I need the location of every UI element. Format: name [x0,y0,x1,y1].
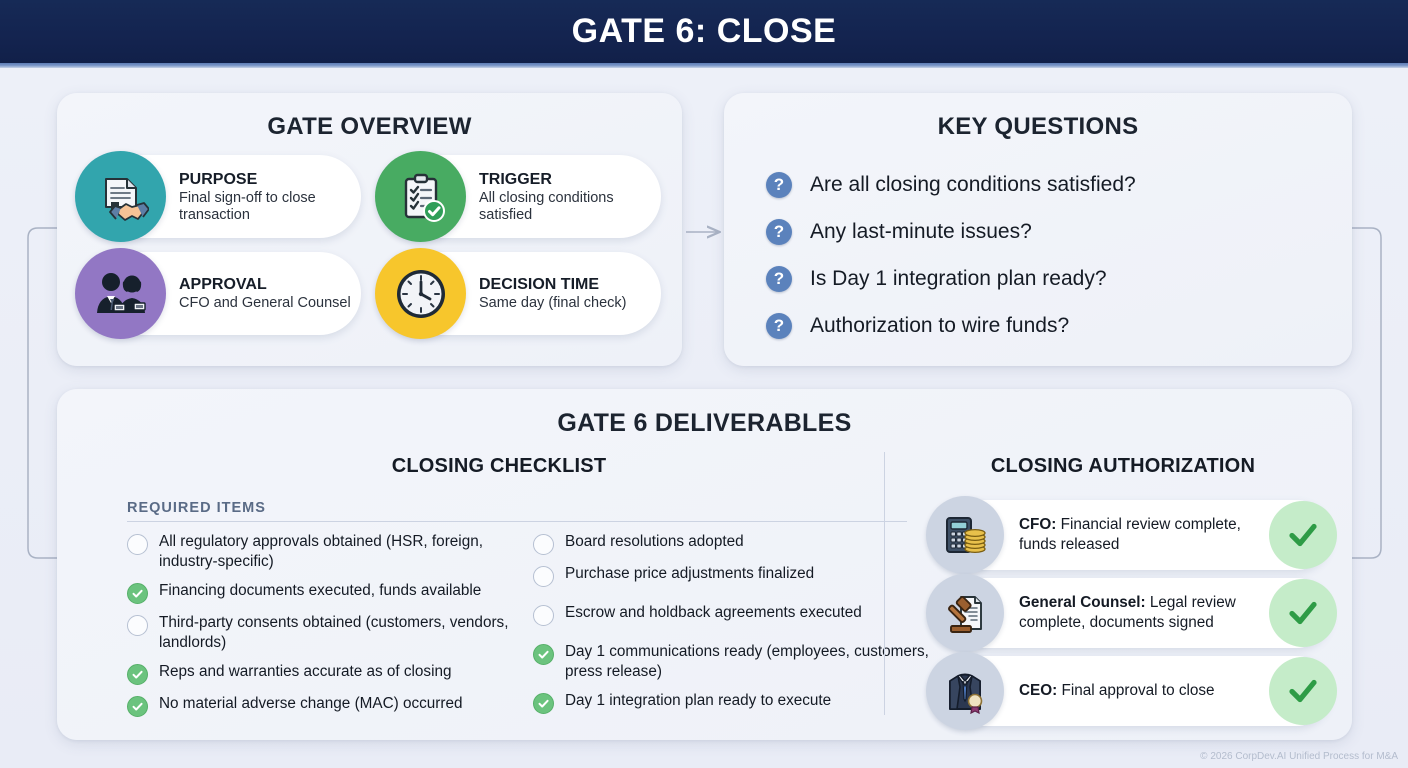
key-questions-list: ? Are all closing conditions satisfied? … [766,161,1326,349]
overview-card-label: PURPOSE [179,170,353,189]
key-question-text: Are all closing conditions satisfied? [810,173,1136,197]
checklist-item[interactable]: No material adverse change (MAC) occurre… [127,694,523,717]
key-question-text: Is Day 1 integration plan ready? [810,267,1107,291]
checklist-item[interactable]: Day 1 integration plan ready to execute [533,691,929,714]
checklist-columns: All regulatory approvals obtained (HSR, … [127,532,929,726]
closing-authorization-title: CLOSING AUTHORIZATION [903,455,1343,478]
checklist-item[interactable]: All regulatory approvals obtained (HSR, … [127,532,523,572]
checklist-column-left: All regulatory approvals obtained (HSR, … [127,532,523,726]
checklist-item-text: Third-party consents obtained (customers… [159,613,523,653]
overview-card-desc: All closing conditions satisfied [479,190,653,224]
overview-card-trigger[interactable]: TRIGGER All closing conditions satisfied [379,155,661,238]
checklist-item[interactable]: Escrow and holdback agreements executed [533,603,929,626]
question-mark-icon: ? [766,313,792,339]
checklist-item-text: All regulatory approvals obtained (HSR, … [159,532,523,572]
list-item: ? Any last-minute issues? [766,208,1326,255]
checkbox-checked-icon[interactable] [533,693,554,714]
checklist-item[interactable]: Board resolutions adopted [533,532,929,555]
checklist-item-text: Reps and warranties accurate as of closi… [159,662,452,682]
checklist-item-text: Day 1 communications ready (employees, c… [565,642,929,682]
checkbox-checked-icon[interactable] [127,696,148,717]
footer-copyright: © 2026 CorpDev.AI Unified Process for M&… [1200,751,1398,762]
overview-card-purpose[interactable]: PURPOSE Final sign-off to close transact… [79,155,361,238]
document-handshake-icon [75,151,166,242]
approved-check-icon [1269,579,1337,647]
list-item: ? Is Day 1 integration plan ready? [766,255,1326,302]
overview-card-desc: CFO and General Counsel [179,295,351,312]
key-questions-panel: KEY QUESTIONS ? Are all closing conditio… [724,93,1352,366]
checkbox-checked-icon[interactable] [127,583,148,604]
key-question-text: Any last-minute issues? [810,220,1032,244]
overview-card-desc: Same day (final check) [479,295,626,312]
checklist-item-text: Escrow and holdback agreements executed [565,603,862,623]
approved-check-icon [1269,657,1337,725]
closing-authorization-section: CLOSING AUTHORIZATION [903,455,1343,734]
overview-card-label: DECISION TIME [479,275,626,294]
checklist-item-text: Purchase price adjustments finalized [565,564,814,584]
overview-card-desc: Final sign-off to close transaction [179,190,353,224]
gate-overview-cards: PURPOSE Final sign-off to close transact… [79,155,661,335]
checkbox-unchecked-icon[interactable] [533,534,554,555]
overview-card-approval[interactable]: APPROVAL CFO and General Counsel [79,252,361,335]
checklist-item[interactable]: Day 1 communications ready (employees, c… [533,642,929,682]
authorization-row-general-counsel[interactable]: General Counsel: Legal review complete, … [931,578,1331,648]
checkbox-unchecked-icon[interactable] [127,534,148,555]
checkbox-checked-icon[interactable] [533,644,554,665]
authorization-role: CFO: [1019,516,1056,533]
authorization-role: CEO: [1019,682,1057,699]
list-item: ? Authorization to wire funds? [766,302,1326,349]
list-item: ? Are all closing conditions satisfied? [766,161,1326,208]
deliverables-title: GATE 6 DELIVERABLES [57,409,1352,438]
overview-card-label: TRIGGER [479,170,653,189]
gate-overview-panel: GATE OVERVIEW PURP [57,93,682,366]
authorization-role: General Counsel: [1019,594,1146,611]
checklist-item[interactable]: Financing documents executed, funds avai… [127,581,523,604]
question-mark-icon: ? [766,219,792,245]
authorization-text: CFO: Financial review complete, funds re… [1019,515,1255,555]
deliverables-panel: GATE 6 DELIVERABLES CLOSING CHECKLIST RE… [57,389,1352,740]
approved-check-icon [1269,501,1337,569]
clipboard-check-icon [375,151,466,242]
checklist-item[interactable]: Reps and warranties accurate as of closi… [127,662,523,685]
key-questions-title: KEY QUESTIONS [724,113,1352,141]
checklist-item-text: No material adverse change (MAC) occurre… [159,694,463,714]
checkbox-unchecked-icon[interactable] [533,605,554,626]
closing-checklist-section: CLOSING CHECKLIST REQUIRED ITEMS All reg… [69,455,929,726]
authorization-row-cfo[interactable]: CFO: Financial review complete, funds re… [931,500,1331,570]
checklist-item[interactable]: Third-party consents obtained (customers… [127,613,523,653]
required-items-label: REQUIRED ITEMS [127,500,929,516]
checklist-item[interactable]: Purchase price adjustments finalized [533,564,929,587]
authorization-rows: CFO: Financial review complete, funds re… [931,500,1371,726]
authorization-text: CEO: Final approval to close [1019,681,1215,701]
checkbox-unchecked-icon[interactable] [533,566,554,587]
question-mark-icon: ? [766,266,792,292]
checkbox-unchecked-icon[interactable] [127,615,148,636]
authorization-detail: Final approval to close [1057,682,1214,699]
checklist-item-text: Day 1 integration plan ready to execute [565,691,831,711]
closing-checklist-title: CLOSING CHECKLIST [69,455,929,478]
gate-overview-title: GATE OVERVIEW [57,113,682,141]
page-title: GATE 6: CLOSE [572,12,837,51]
checklist-item-text: Board resolutions adopted [565,532,744,552]
suit-badge-icon [926,652,1004,730]
checklist-item-text: Financing documents executed, funds avai… [159,581,481,601]
key-question-text: Authorization to wire funds? [810,314,1069,338]
authorization-row-ceo[interactable]: CEO: Final approval to close [931,656,1331,726]
business-people-icon [75,248,166,339]
checklist-column-right: Board resolutions adopted Purchase price… [533,532,929,726]
overview-card-label: APPROVAL [179,275,351,294]
clock-icon [375,248,466,339]
divider [127,521,907,522]
question-mark-icon: ? [766,172,792,198]
column-divider [884,452,885,715]
checkbox-checked-icon[interactable] [127,664,148,685]
page-header: GATE 6: CLOSE [0,0,1408,63]
authorization-text: General Counsel: Legal review complete, … [1019,593,1255,633]
gavel-document-icon [926,574,1004,652]
calculator-coins-icon [926,496,1004,574]
overview-card-decision-time[interactable]: DECISION TIME Same day (final check) [379,252,661,335]
